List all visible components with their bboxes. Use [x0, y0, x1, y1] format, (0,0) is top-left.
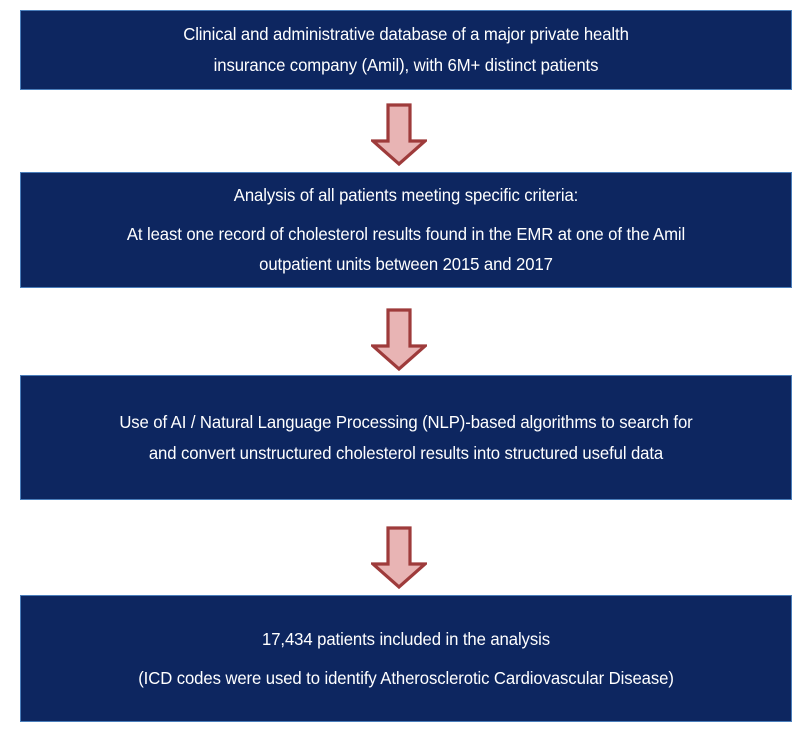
down-arrow-icon: [371, 103, 427, 166]
node-text-line: outpatient units between 2015 and 2017: [63, 252, 749, 277]
flowchart-diagram: Clinical and administrative database of …: [0, 0, 800, 742]
node-text-line: At least one record of cholesterol resul…: [63, 222, 749, 247]
down-arrow-icon: [371, 308, 427, 371]
flowchart-node-final-cohort: 17,434 patients included in the analysis…: [20, 595, 792, 722]
flowchart-node-database-source: Clinical and administrative database of …: [20, 10, 792, 90]
node-text-line: Analysis of all patients meeting specifi…: [63, 183, 749, 208]
node-text-line: Use of AI / Natural Language Processing …: [63, 410, 749, 435]
flowchart-node-nlp-processing: Use of AI / Natural Language Processing …: [20, 375, 792, 500]
node-text-line: Clinical and administrative database of …: [63, 22, 749, 47]
node-text-line: insurance company (Amil), with 6M+ disti…: [63, 53, 749, 78]
down-arrow-icon: [371, 526, 427, 589]
node-text-line: 17,434 patients included in the analysis: [63, 627, 749, 652]
node-text-line: and convert unstructured cholesterol res…: [63, 441, 749, 466]
flowchart-node-inclusion-criteria: Analysis of all patients meeting specifi…: [20, 172, 792, 288]
node-text-line: (ICD codes were used to identify Atheros…: [63, 666, 749, 691]
